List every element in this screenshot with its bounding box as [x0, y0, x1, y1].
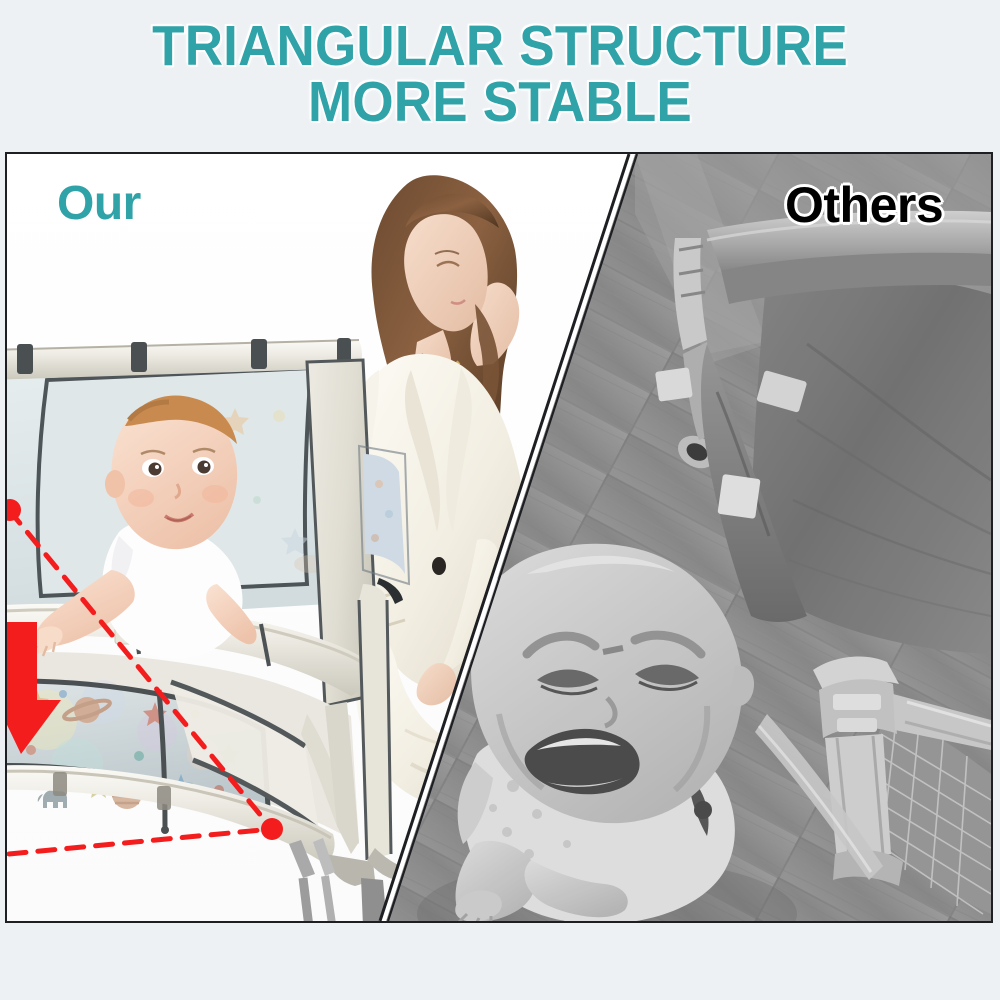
headline-line-2: MORE STABLE [35, 74, 965, 130]
label-our: Our [57, 180, 141, 228]
label-others: Others [785, 180, 943, 230]
headline-line-1: TRIANGULAR STRUCTURE [35, 18, 965, 74]
triangle-vertex-marker [261, 818, 283, 840]
comparison-photo-panel [5, 152, 993, 923]
page-title: TRIANGULAR STRUCTURE MORE STABLE [0, 18, 1000, 130]
product-infographic: TRIANGULAR STRUCTURE MORE STABLE [0, 0, 1000, 1000]
comparison-illustration [7, 154, 991, 921]
